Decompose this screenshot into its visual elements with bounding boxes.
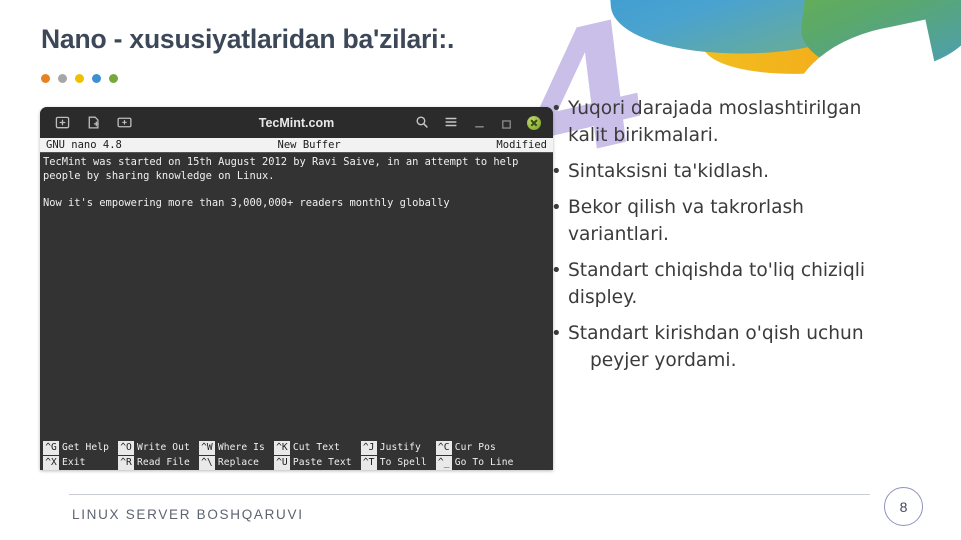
shortcut-key: ^G <box>43 441 59 455</box>
nano-status-bar: GNU nano 4.8 New Buffer Modified <box>40 138 553 153</box>
shortcut-label: Paste Text <box>293 455 352 470</box>
shortcut-label: Cur Pos <box>455 440 496 455</box>
search-icon[interactable] <box>415 115 430 130</box>
dot-yellow <box>75 74 84 83</box>
bullet-text-line2: variantlari. <box>568 224 669 245</box>
nano-version-label: GNU nano 4.8 <box>46 138 122 152</box>
shortcut-column: ^CCur Pos^_Go To Line <box>436 440 514 470</box>
shortcut-label: To Spell <box>380 455 427 470</box>
shortcut-item[interactable]: ^XExit <box>43 455 109 470</box>
bullet-marker-icon: • <box>551 95 568 149</box>
ribbon-green <box>797 0 961 84</box>
shortcut-key: ^T <box>361 456 377 470</box>
shortcut-label: Get Help <box>62 440 109 455</box>
bullet-marker-icon: • <box>551 158 568 185</box>
bullet-text: Yuqori darajada moslashtirilgankalit bir… <box>568 95 947 149</box>
shortcut-item[interactable]: ^\Replace <box>199 455 265 470</box>
ribbon-blue <box>608 0 884 63</box>
dot-green <box>109 74 118 83</box>
shortcut-item[interactable]: ^CCur Pos <box>436 440 514 455</box>
shortcut-item[interactable]: ^UPaste Text <box>274 455 352 470</box>
shortcut-key: ^X <box>43 456 59 470</box>
bullet-marker-icon: • <box>551 194 568 248</box>
shortcut-key: ^J <box>361 441 377 455</box>
shortcut-label: Replace <box>218 455 259 470</box>
terminal-titlebar: TecMint.com <box>40 107 553 138</box>
dot-blue <box>92 74 101 83</box>
shortcut-item[interactable]: ^GGet Help <box>43 440 109 455</box>
shortcut-label: Justify <box>380 440 421 455</box>
bullet-item: •Yuqori darajada moslashtirilgankalit bi… <box>551 95 947 149</box>
bullet-text-line2: peyjer yordami. <box>568 347 947 374</box>
shortcut-label: Write Out <box>137 440 190 455</box>
shortcut-key: ^C <box>436 441 452 455</box>
shortcut-label: Go To Line <box>455 455 514 470</box>
shortcut-item[interactable]: ^TTo Spell <box>361 455 427 470</box>
nano-shortcut-bar: ^GGet Help^XExit^OWrite Out^RRead File^W… <box>40 440 553 470</box>
dot-gray <box>58 74 67 83</box>
shortcut-item[interactable]: ^JJustify <box>361 440 427 455</box>
bullet-item: •Standart chiqishda to'liq chiziqlidispl… <box>551 257 947 311</box>
page-number-badge: 8 <box>884 487 923 526</box>
bullet-text: Standart chiqishda to'liq chiziqlidisple… <box>568 257 947 311</box>
slide-canvas: 4 4 4 Nano - xususiyatlaridan ba'zilari:… <box>0 0 961 540</box>
bullet-item: •Standart kirishdan o'qish uchunpeyjer y… <box>551 320 947 374</box>
shortcut-item[interactable]: ^OWrite Out <box>118 440 190 455</box>
shortcut-key: ^_ <box>436 456 452 470</box>
bullet-text-line2: kalit birikmalari. <box>568 125 719 146</box>
bullet-item: •Sintaksisni ta'kidlash. <box>551 158 947 185</box>
shortcut-item[interactable]: ^WWhere Is <box>199 440 265 455</box>
bullet-marker-icon: • <box>551 257 568 311</box>
bullet-text: Sintaksisni ta'kidlash. <box>568 158 947 185</box>
maximize-icon[interactable] <box>500 116 513 129</box>
shortcut-label: Exit <box>62 455 86 470</box>
shortcut-column: ^JJustify^TTo Spell <box>361 440 427 470</box>
bullet-text: Standart kirishdan o'qish uchunpeyjer yo… <box>568 320 947 374</box>
new-window-icon[interactable] <box>117 115 132 130</box>
ribbon-amber <box>697 0 961 83</box>
shortcut-key: ^R <box>118 456 134 470</box>
shortcut-column: ^WWhere Is^\Replace <box>199 440 265 470</box>
accent-dot-row <box>41 74 118 83</box>
shortcut-item[interactable]: ^_Go To Line <box>436 455 514 470</box>
shortcut-column: ^GGet Help^XExit <box>43 440 109 470</box>
open-terminal-icon[interactable] <box>86 115 101 130</box>
new-tab-icon[interactable] <box>55 115 70 130</box>
shortcut-key: ^U <box>274 456 290 470</box>
shortcut-label: Cut Text <box>293 440 340 455</box>
shortcut-label: Read File <box>137 455 190 470</box>
shortcut-key: ^W <box>199 441 215 455</box>
bullet-text-line2: displey. <box>568 287 637 308</box>
shortcut-key: ^O <box>118 441 134 455</box>
bullet-list: •Yuqori darajada moslashtirilgankalit bi… <box>551 95 947 383</box>
footer-divider <box>69 494 870 495</box>
bullet-item: •Bekor qilish va takrorlashvariantlari. <box>551 194 947 248</box>
terminal-window: TecMint.com GNU nano 4.8 New Buffer <box>40 107 553 470</box>
shortcut-key: ^\ <box>199 456 215 470</box>
dot-orange <box>41 74 50 83</box>
shortcut-label: Where Is <box>218 440 265 455</box>
shortcut-item[interactable]: ^KCut Text <box>274 440 352 455</box>
shortcut-item[interactable]: ^RRead File <box>118 455 190 470</box>
bullet-marker-icon: • <box>551 320 568 374</box>
nano-modified-label: Modified <box>496 138 547 152</box>
footer-label: LINUX SERVER BOSHQARUVI <box>72 507 304 522</box>
shortcut-column: ^OWrite Out^RRead File <box>118 440 190 470</box>
minimize-icon[interactable] <box>473 116 486 129</box>
shortcut-key: ^K <box>274 441 290 455</box>
menu-icon[interactable] <box>444 115 459 130</box>
close-icon[interactable] <box>527 116 541 130</box>
nano-text-content[interactable]: TecMint was started on 15th August 2012 … <box>40 153 553 425</box>
shortcut-column: ^KCut Text^UPaste Text <box>274 440 352 470</box>
page-title: Nano - xususiyatlaridan ba'zilari:. <box>41 24 454 55</box>
nano-buffer-label: New Buffer <box>122 138 497 152</box>
bullet-text: Bekor qilish va takrorlashvariantlari. <box>568 194 947 248</box>
